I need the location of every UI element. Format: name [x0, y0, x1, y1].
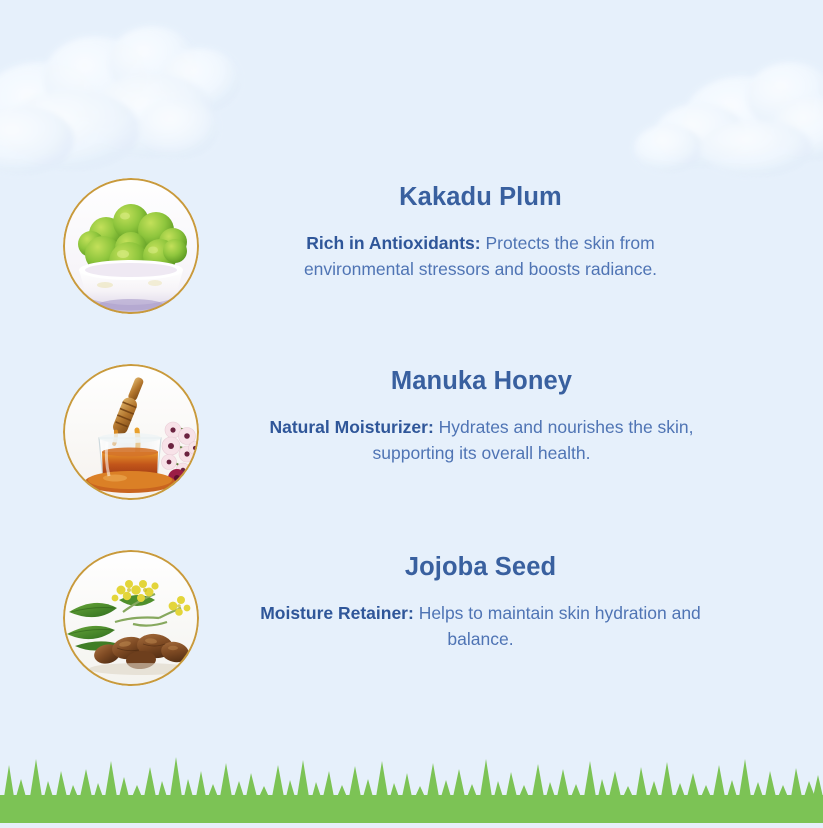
ingredient-benefit-label: Moisture Retainer:: [260, 603, 414, 623]
ingredient-item-manuka-honey: Manuka Honey Natural Moisturizer: Hydrat…: [0, 364, 823, 550]
ingredient-text-manuka-honey: Manuka Honey Natural Moisturizer: Hydrat…: [250, 364, 823, 466]
ingredient-benefit-label: Rich in Antioxidants:: [306, 233, 480, 253]
ingredient-title: Kakadu Plum: [250, 182, 711, 214]
thumb-wrap-kakadu-plum: [0, 178, 250, 314]
ingredient-item-kakadu-plum: Kakadu Plum Rich in Antioxidants: Protec…: [0, 178, 823, 364]
thumb-wrap-manuka-honey: [0, 364, 250, 500]
manuka-honey-photo: [63, 364, 199, 500]
ingredient-description: Moisture Retainer: Helps to maintain ski…: [250, 601, 711, 652]
jojoba-seed-photo: [63, 550, 199, 686]
thumb-wrap-jojoba-seed: [0, 550, 250, 686]
ingredient-description: Natural Moisturizer: Hydrates and nouris…: [250, 415, 713, 466]
ingredient-description: Rich in Antioxidants: Protects the skin …: [250, 231, 711, 282]
kakadu-plum-photo: [63, 178, 199, 314]
ingredient-text-jojoba-seed: Jojoba Seed Moisture Retainer: Helps to …: [250, 550, 823, 652]
ingredient-benefit-body: Helps to maintain skin hydration and bal…: [414, 603, 701, 649]
ingredient-title: Manuka Honey: [250, 366, 713, 398]
ingredient-title: Jojoba Seed: [250, 552, 711, 584]
ingredient-text-kakadu-plum: Kakadu Plum Rich in Antioxidants: Protec…: [250, 178, 823, 282]
ingredient-item-jojoba-seed: Jojoba Seed Moisture Retainer: Helps to …: [0, 550, 823, 738]
ingredients-list: Kakadu Plum Rich in Antioxidants: Protec…: [0, 0, 823, 823]
ingredient-benefit-label: Natural Moisturizer:: [269, 417, 433, 437]
